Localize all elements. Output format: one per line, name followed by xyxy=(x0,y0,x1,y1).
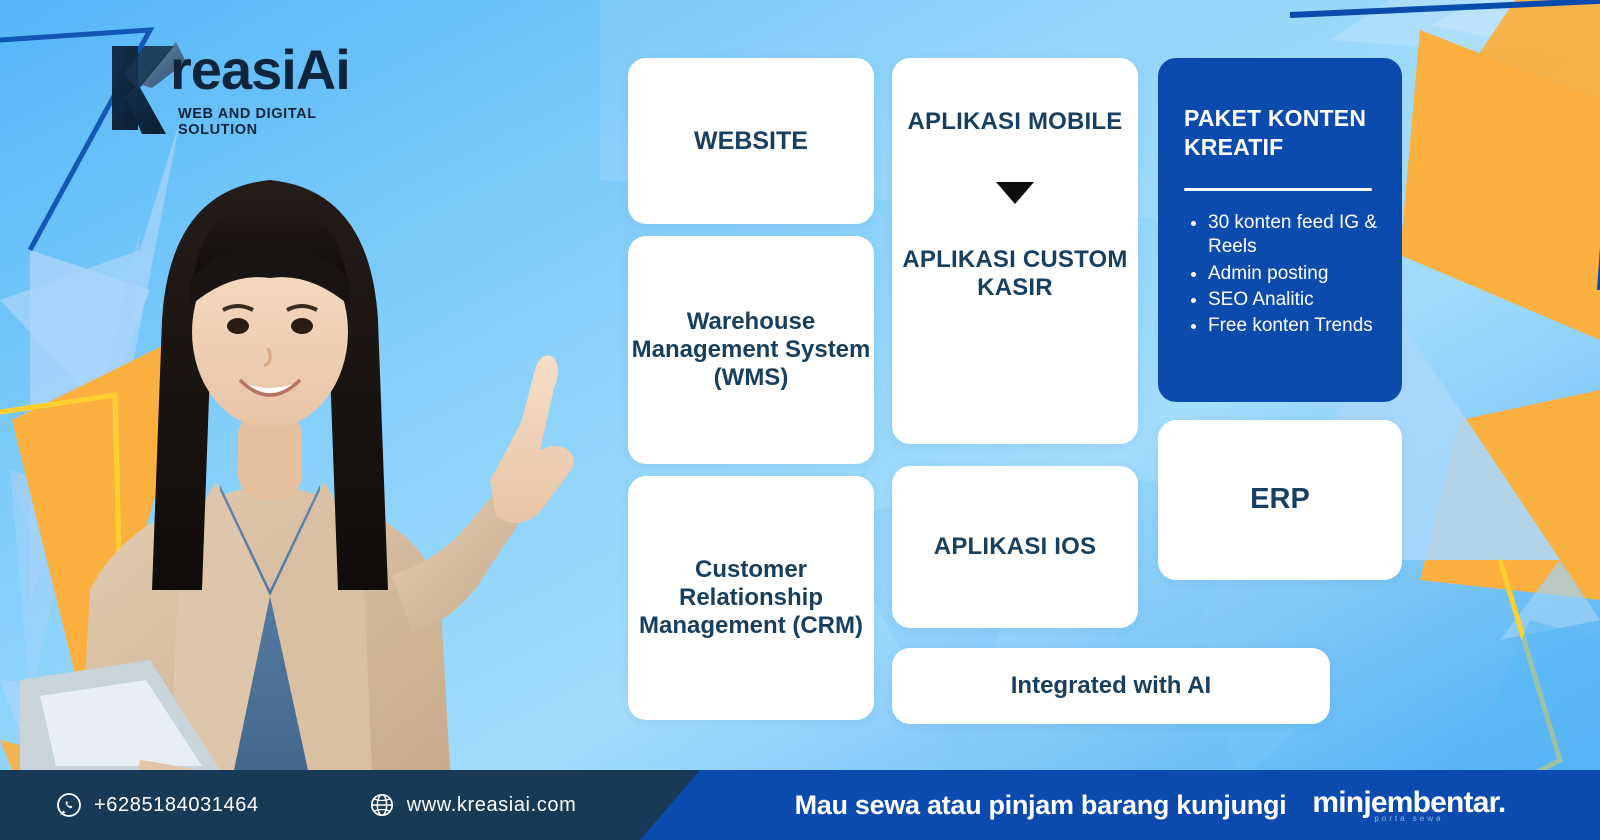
phone-number: +6285184031464 xyxy=(94,794,259,817)
footer-promo-section: Mau sewa atau pinjam barang kunjungi min… xyxy=(640,770,1600,840)
card-aplikasi-mobile[interactable]: APLIKASI MOBILE APLIKASI CUSTOM KASIR xyxy=(892,58,1138,444)
card-crm[interactable]: Customer Relationship Management (CRM) xyxy=(628,476,874,720)
card-kasir-label: APLIKASI CUSTOM KASIR xyxy=(892,246,1138,302)
list-item: SEO Analitic xyxy=(1208,288,1380,312)
card-erp[interactable]: ERP xyxy=(1158,420,1402,580)
card-integrated-ai[interactable]: Integrated with AI xyxy=(892,648,1330,724)
card-mobile-label: APLIKASI MOBILE xyxy=(907,108,1122,136)
card-website[interactable]: WEBSITE xyxy=(628,58,874,224)
partner-logo[interactable]: minjembentar. porta sewa xyxy=(1312,788,1505,823)
contact-phone[interactable]: +6285184031464 xyxy=(56,792,259,818)
footer-bar: +6285184031464 www.kreasiai.com Mau sewa… xyxy=(0,770,1600,840)
whatsapp-icon xyxy=(56,792,82,818)
globe-icon xyxy=(369,792,395,818)
card-wms[interactable]: Warehouse Management System (WMS) xyxy=(628,236,874,464)
paket-feature-list: 30 konten feed IG & Reels Admin posting … xyxy=(1184,211,1380,339)
contact-website[interactable]: www.kreasiai.com xyxy=(369,792,577,818)
presenter-photo xyxy=(20,120,620,770)
promo-message: Mau sewa atau pinjam barang kunjungi xyxy=(795,790,1287,821)
card-wms-label: Warehouse Management System (WMS) xyxy=(628,308,874,391)
promo-banner: reasiAi WEB AND DIGITAL SOLUTION xyxy=(0,0,1600,840)
card-aplikasi-ios[interactable]: APLIKASI IOS xyxy=(892,466,1138,628)
list-item: Admin posting xyxy=(1208,262,1380,286)
chevron-down-icon xyxy=(996,182,1034,204)
card-erp-label: ERP xyxy=(1250,483,1310,517)
card-ai-label: Integrated with AI xyxy=(1011,672,1211,700)
card-ios-label: APLIKASI IOS xyxy=(934,533,1096,561)
paket-title: PAKET KONTEN KREATIF xyxy=(1184,104,1380,162)
paket-divider xyxy=(1184,188,1372,191)
card-crm-label: Customer Relationship Management (CRM) xyxy=(628,556,874,639)
website-url: www.kreasiai.com xyxy=(407,794,577,817)
list-item: Free konten Trends xyxy=(1208,314,1380,338)
logo-wordmark: reasiAi xyxy=(170,42,350,98)
footer-contact-section: +6285184031464 www.kreasiai.com xyxy=(0,770,760,840)
card-website-label: WEBSITE xyxy=(694,127,808,156)
list-item: 30 konten feed IG & Reels xyxy=(1208,211,1380,260)
card-paket-konten-kreatif[interactable]: PAKET KONTEN KREATIF 30 konten feed IG &… xyxy=(1158,58,1402,402)
